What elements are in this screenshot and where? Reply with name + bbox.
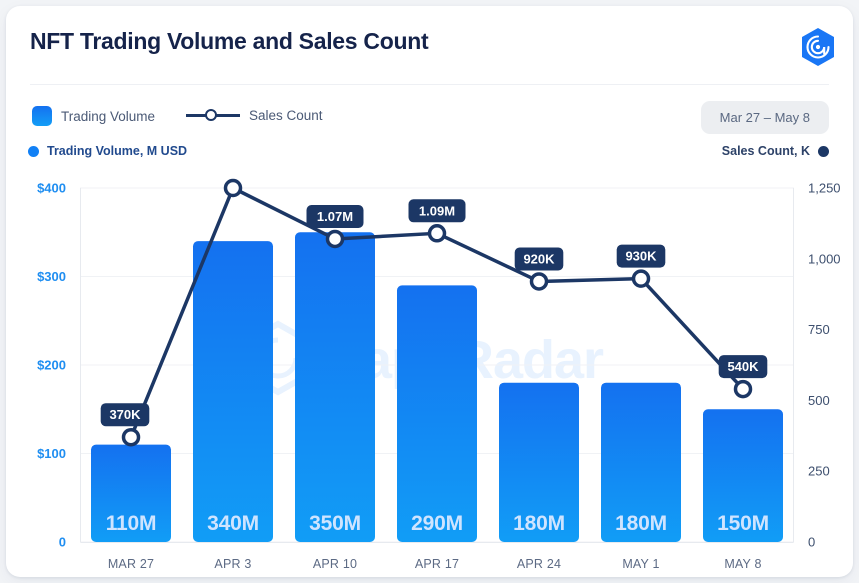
card-header: NFT Trading Volume and Sales Count bbox=[6, 6, 853, 84]
square-swatch-icon bbox=[32, 106, 52, 126]
left-axis-tick-label: $300 bbox=[37, 269, 66, 284]
line-data-point[interactable] bbox=[124, 430, 139, 445]
badge-label: 540K bbox=[727, 359, 759, 374]
combo-bar-line-chart: DappRadar 0$100$200$300$400 02505007501,… bbox=[6, 174, 853, 574]
line-value-badge: 370K bbox=[101, 403, 150, 426]
x-axis-tick-label: APR 3 bbox=[214, 557, 251, 571]
line-value-badge: 930K bbox=[617, 245, 666, 268]
left-axis-ticks: 0$100$200$300$400 bbox=[37, 181, 66, 550]
legend-row: Trading Volume Sales Count Mar 27 – May … bbox=[6, 100, 853, 138]
line-value-badge: 1.09M bbox=[409, 199, 466, 222]
navy-dot-icon bbox=[818, 146, 829, 157]
right-axis-caption-label: Sales Count, K bbox=[722, 144, 810, 158]
bar-value-label: 110M bbox=[106, 512, 157, 535]
x-axis-tick-label: MAR 27 bbox=[108, 557, 154, 571]
legend-item-sales-count[interactable]: Sales Count bbox=[186, 106, 323, 124]
bar-value-label: 150M bbox=[717, 512, 769, 535]
line-data-point[interactable] bbox=[532, 274, 547, 289]
badge-label: 930K bbox=[625, 249, 657, 264]
badge-label: 1.07M bbox=[317, 209, 353, 224]
x-axis-ticks: MAR 27APR 3APR 10APR 17APR 24MAY 1MAY 8 bbox=[108, 557, 762, 571]
x-axis-tick-label: APR 10 bbox=[313, 557, 357, 571]
bar-value-label: 350M bbox=[309, 512, 361, 535]
line-value-badge: 920K bbox=[515, 247, 564, 270]
line-circle-marker-icon bbox=[186, 106, 240, 124]
right-axis-caption: Sales Count, K bbox=[722, 144, 829, 158]
line-data-point[interactable] bbox=[634, 271, 649, 286]
left-axis-caption: Trading Volume, M USD bbox=[28, 144, 187, 158]
line-data-point[interactable] bbox=[328, 231, 343, 246]
x-axis-tick-label: MAY 1 bbox=[622, 557, 659, 571]
line-data-point[interactable] bbox=[430, 226, 445, 241]
right-axis-tick-label: 250 bbox=[808, 464, 830, 479]
x-axis-tick-label: MAY 8 bbox=[724, 557, 761, 571]
x-axis-tick-label: APR 24 bbox=[517, 557, 561, 571]
line-value-badge: 1.07M bbox=[307, 205, 364, 228]
bar-value-label: 180M bbox=[615, 512, 667, 535]
right-axis-tick-label: 0 bbox=[808, 535, 815, 550]
header-divider bbox=[30, 84, 829, 85]
x-axis-tick-label: APR 17 bbox=[415, 557, 459, 571]
right-axis-ticks: 02505007501,0001,250 bbox=[808, 181, 841, 550]
line-data-point[interactable] bbox=[226, 181, 241, 196]
bar[interactable] bbox=[295, 232, 375, 542]
right-axis-tick-label: 1,250 bbox=[808, 181, 841, 196]
bar-value-label: 290M bbox=[411, 512, 463, 535]
legend-label-sales-count: Sales Count bbox=[249, 108, 323, 123]
chart-card: NFT Trading Volume and Sales Count Tradi… bbox=[6, 6, 853, 577]
bar[interactable] bbox=[193, 241, 273, 542]
legend-label-trading-volume: Trading Volume bbox=[61, 109, 155, 124]
left-axis-tick-label: $200 bbox=[37, 358, 66, 373]
bar[interactable] bbox=[397, 285, 477, 542]
dappradar-hexagon-logo-icon[interactable] bbox=[796, 25, 840, 69]
axis-caption-row: Trading Volume, M USD Sales Count, K bbox=[6, 144, 853, 168]
right-axis-tick-label: 500 bbox=[808, 393, 830, 408]
left-axis-caption-label: Trading Volume, M USD bbox=[47, 144, 187, 158]
right-axis-tick-label: 1,000 bbox=[808, 251, 841, 266]
badge-label: 920K bbox=[523, 251, 555, 266]
line-value-badge: 540K bbox=[719, 355, 768, 378]
bar-value-label: 340M bbox=[207, 512, 259, 535]
right-axis-tick-label: 750 bbox=[808, 322, 830, 337]
blue-dot-icon bbox=[28, 146, 39, 157]
left-axis-tick-label: $400 bbox=[37, 181, 66, 196]
left-axis-tick-label: $100 bbox=[37, 446, 66, 461]
page-title: NFT Trading Volume and Sales Count bbox=[30, 28, 428, 55]
legend-item-trading-volume[interactable]: Trading Volume bbox=[32, 106, 155, 126]
line-data-point[interactable] bbox=[736, 382, 751, 397]
bar-value-label: 180M bbox=[513, 512, 565, 535]
date-range-pill[interactable]: Mar 27 – May 8 bbox=[701, 101, 829, 134]
badge-label: 370K bbox=[109, 407, 141, 422]
badge-label: 1.09M bbox=[419, 203, 455, 218]
chart-plot-area: DappRadar 0$100$200$300$400 02505007501,… bbox=[6, 174, 853, 574]
left-axis-tick-label: 0 bbox=[59, 535, 66, 550]
